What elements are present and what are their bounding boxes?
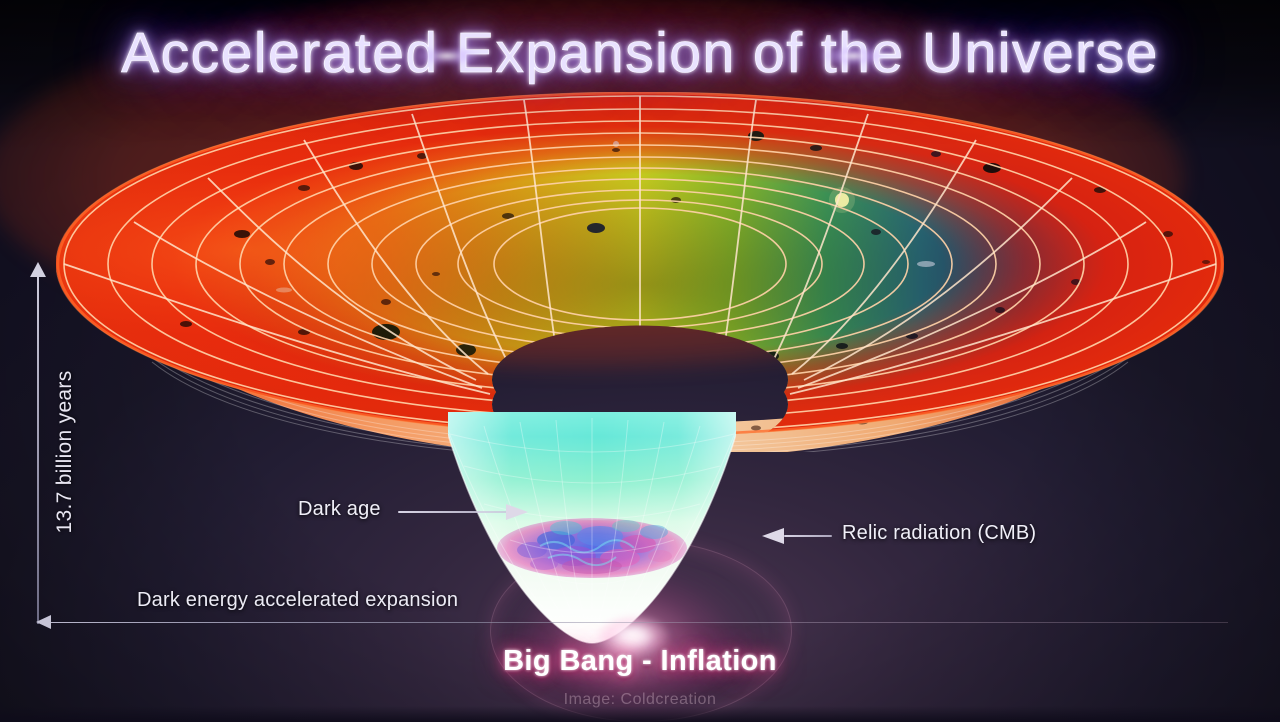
- callout-relic-radiation-label: Relic radiation (CMB): [842, 522, 1036, 545]
- callout-relic-radiation-leader: [784, 535, 832, 537]
- expansion-axis-line: [48, 622, 1228, 623]
- bigbang-caption: Big Bang - Inflation: [0, 645, 1280, 678]
- arrow-left-icon: [762, 528, 784, 544]
- expansion-disk: [56, 92, 1224, 452]
- callout-dark-age-leader: [398, 511, 508, 513]
- time-axis-label: 13.7 billion years: [53, 332, 77, 572]
- funnel-cone: [448, 408, 736, 646]
- universe-expansion-figure: Accelerated Expansion of the Universe: [0, 0, 1280, 722]
- disk-top-surface: [56, 92, 1224, 452]
- dark-energy-label: Dark energy accelerated expansion: [137, 589, 458, 612]
- callout-dark-age: Dark age: [298, 498, 381, 521]
- figure-title-text: Accelerated Expansion of the Universe: [121, 21, 1159, 85]
- arrow-right-icon: [506, 504, 528, 520]
- image-credit: Image: Coldcreation: [0, 691, 1280, 709]
- arrow-up-icon: [30, 262, 46, 277]
- callout-dark-age-label: Dark age: [298, 498, 381, 520]
- time-axis-line: [37, 272, 39, 624]
- figure-title: Accelerated Expansion of the Universe: [0, 20, 1280, 86]
- arrow-left-icon: [36, 615, 51, 629]
